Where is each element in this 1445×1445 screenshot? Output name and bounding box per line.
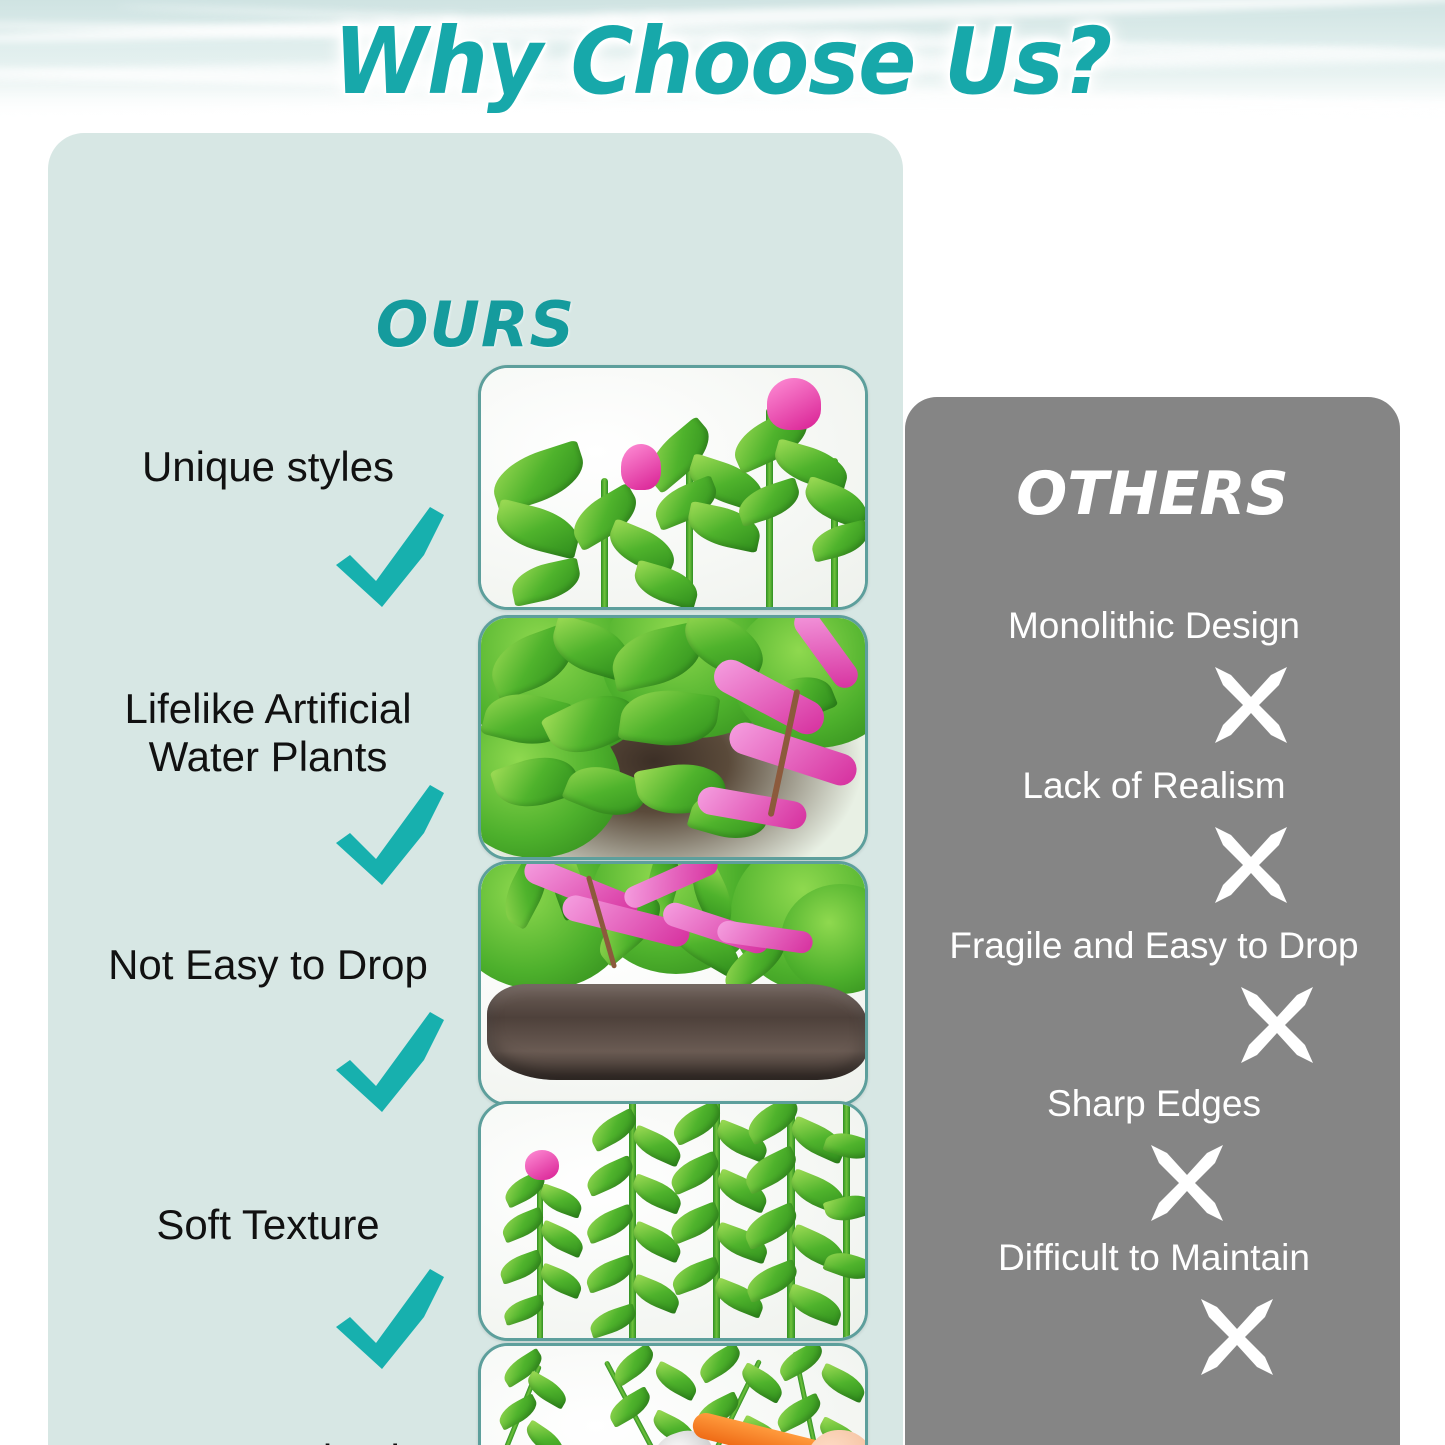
others-panel: OTHERS Monolithic Design Lack of Realism… [905,397,1400,1445]
x-icon [1145,1141,1229,1225]
ours-item-label: Soft Texture [68,1201,468,1249]
others-item-label: Difficult to Maintain [919,1237,1389,1280]
ours-panel: OURS Unique styles [48,133,903,1445]
ours-item-photo [478,365,868,610]
ours-item-photo [478,1343,868,1445]
photo-scene [481,1346,865,1445]
ours-item-label: Unique styles [68,443,468,491]
ours-item-photo [478,861,868,1106]
ours-item-photo [478,615,868,860]
x-icon [1195,1295,1279,1379]
ours-item-photo [478,1101,868,1341]
x-icon [1235,983,1319,1067]
others-item-label: Fragile and Easy to Drop [919,925,1389,968]
x-icon [1209,663,1293,747]
ours-heading: OURS [48,288,903,361]
x-icon [1209,823,1293,907]
ours-item-label: Lifelike Artificial Water Plants [68,685,468,782]
ours-item-label: Not Easy to Drop [68,941,468,989]
ours-item-label-line2: Water Plants [149,733,388,780]
others-heading: OTHERS [905,459,1400,529]
photo-scene [481,864,865,1103]
check-icon [330,1265,450,1375]
check-icon [330,781,450,891]
ours-item-label-line1: Lifelike Artificial [124,685,411,732]
others-item-label: Lack of Realism [919,765,1389,808]
photo-scene [481,1104,865,1338]
ours-row: Easy to Maintain [48,1418,903,1445]
photo-scene [481,368,865,607]
photo-scene [481,618,865,857]
page-title: Why Choose Us? [51,8,1395,115]
others-item-label: Sharp Edges [919,1083,1389,1126]
check-icon [330,503,450,613]
ours-item-label: Easy to Maintain [68,1436,468,1445]
others-item-label: Monolithic Design [919,605,1389,648]
why-choose-us-comparison-graphic: Why Choose Us? OURS Unique styles [0,0,1445,1445]
check-icon [330,1008,450,1118]
